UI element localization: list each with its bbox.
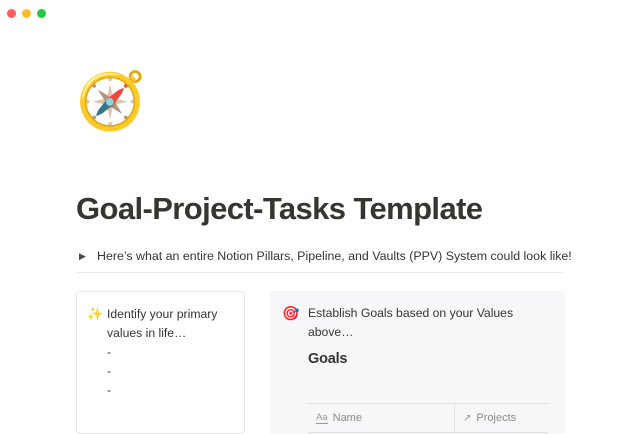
- minimize-window-button[interactable]: [22, 9, 31, 18]
- direct-hit-icon: 🎯: [282, 304, 308, 322]
- goals-callout-card[interactable]: 🎯 Establish Goals based on your Values a…: [270, 291, 565, 434]
- compass-icon[interactable]: 🧭: [76, 70, 138, 132]
- horizontal-divider: [76, 272, 565, 273]
- text-property-icon: Aa: [316, 412, 328, 424]
- table-header-row: Aa Name ↗ Projects: [308, 404, 548, 433]
- document-page: 🧭 Goal-Project-Tasks Template ▶ Here’s w…: [0, 34, 640, 400]
- toggle-block[interactable]: ▶ Here’s what an entire Notion Pillars, …: [76, 245, 566, 267]
- close-window-button[interactable]: [7, 9, 16, 18]
- list-item[interactable]: -: [107, 362, 234, 381]
- maximize-window-button[interactable]: [37, 9, 46, 18]
- goals-database-table: Aa Name ↗ Projects: [308, 403, 548, 434]
- column-header-projects[interactable]: ↗ Projects: [455, 404, 548, 432]
- chevron-right-icon[interactable]: ▶: [76, 247, 94, 265]
- toggle-block-label: Here’s what an entire Notion Pillars, Pi…: [94, 247, 572, 265]
- values-dash-list: - - -: [77, 343, 244, 400]
- relation-property-icon: ↗: [463, 413, 471, 424]
- values-callout-card[interactable]: ✨ Identify your primary values in life… …: [76, 291, 245, 434]
- column-header-name[interactable]: Aa Name: [308, 404, 455, 432]
- traffic-light-group: [7, 9, 46, 18]
- page-title[interactable]: Goal-Project-Tasks Template: [76, 190, 576, 228]
- window-titlebar: [0, 0, 640, 34]
- callout-header: ✨ Identify your primary values in life…: [77, 292, 244, 343]
- column-header-label: Projects: [476, 411, 516, 425]
- goals-database-title[interactable]: Goals: [270, 342, 565, 369]
- list-item[interactable]: -: [107, 381, 234, 400]
- callout-header: 🎯 Establish Goals based on your Values a…: [270, 291, 565, 342]
- column-header-label: Name: [333, 411, 362, 425]
- goals-callout-text: Establish Goals based on your Values abo…: [308, 304, 553, 342]
- list-item[interactable]: -: [107, 343, 234, 362]
- values-callout-text: Identify your primary values in life…: [107, 305, 234, 343]
- sparkles-icon: ✨: [87, 305, 107, 323]
